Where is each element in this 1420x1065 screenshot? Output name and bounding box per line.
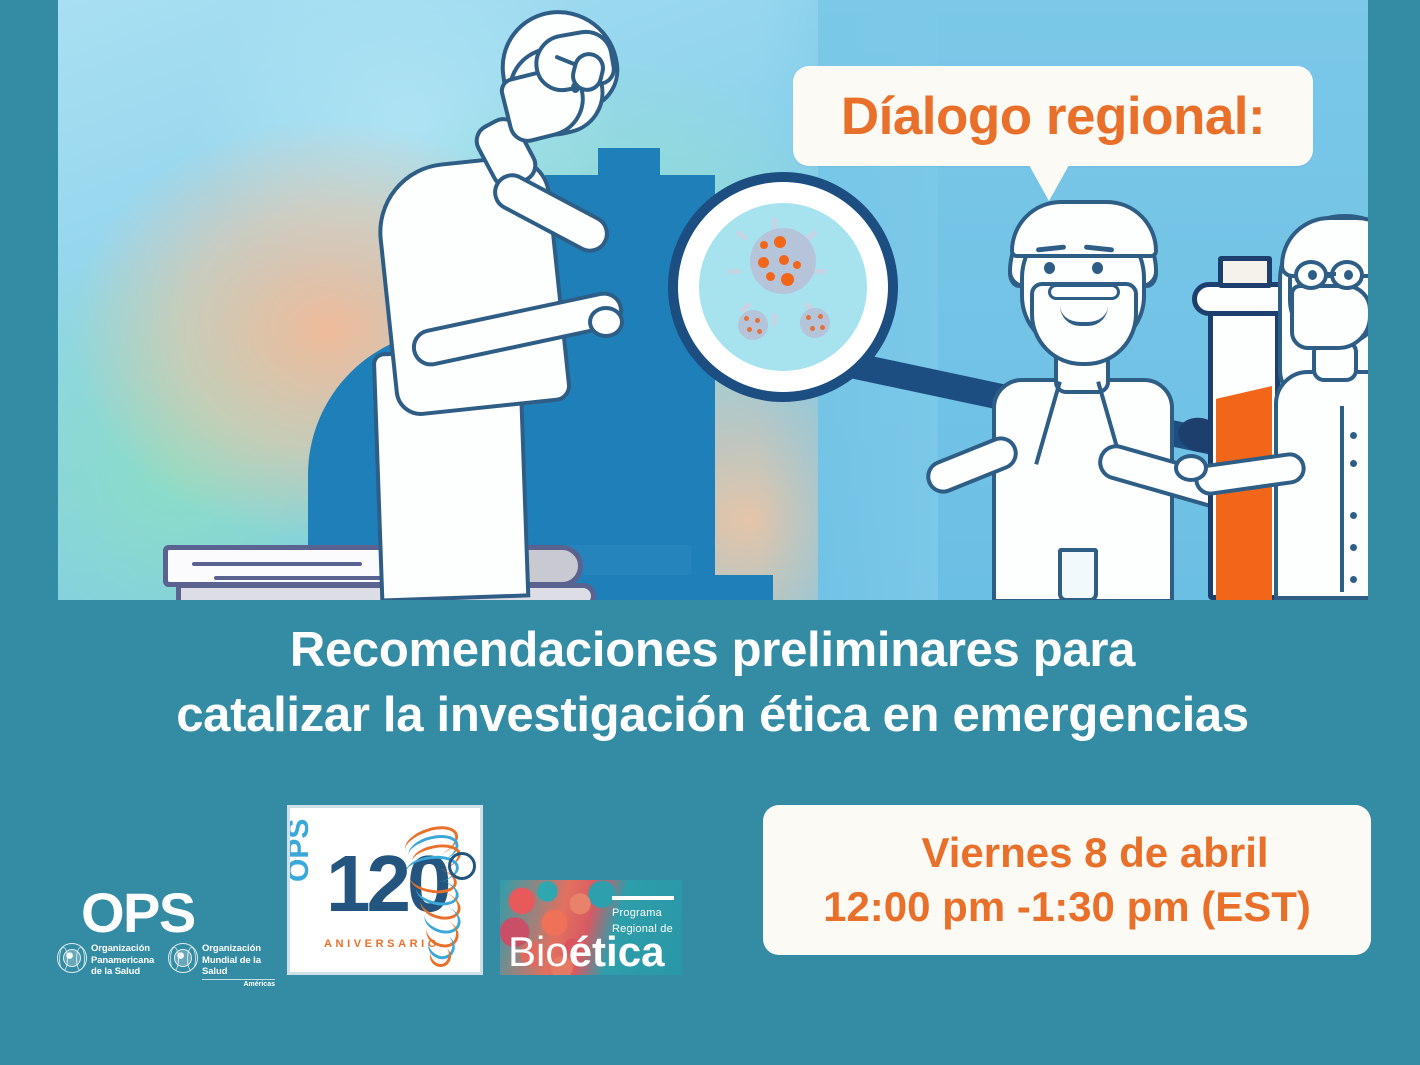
hair-top — [1010, 200, 1158, 258]
promotional-poster: Díalogo regional: Recomendaciones prelim… — [0, 0, 1420, 1065]
scientist-with-test-tube — [1246, 210, 1368, 600]
paho-emblem-group: Organización Panamericana de la Salud — [57, 943, 154, 978]
bioetica-word-bold: ética — [569, 928, 665, 975]
paho-emblem-label: Organización Panamericana de la Salud — [91, 943, 154, 978]
hand-on-knob — [588, 306, 624, 338]
bioetica-divider — [612, 896, 674, 900]
bioetica-word-light: Bio — [508, 928, 569, 975]
virus-particle-small-right — [800, 308, 830, 338]
eye-left — [1044, 262, 1055, 274]
page-title-line-1: Recomendaciones preliminares para — [60, 618, 1365, 683]
hand-holding-tube — [1174, 454, 1208, 482]
paho-wordmark: OPS — [81, 885, 195, 941]
who-region-label: Américas — [202, 979, 275, 988]
virus-particle-large — [750, 228, 816, 294]
virus-particle-small-left — [738, 310, 768, 340]
scientist-with-magnifier — [968, 190, 1228, 600]
anniversary-ops-vertical: OPS — [287, 819, 316, 882]
who-emblem-group: Organización Mundial de la Salud América… — [168, 943, 275, 988]
eyeglasses-bridge — [1326, 272, 1336, 276]
bioetica-wordmark: Bioética — [508, 931, 664, 973]
anniversary-120-logo: OPS 120 ANIVERSARIO — [287, 805, 483, 975]
speech-bubble-tail — [1029, 165, 1069, 201]
speech-bubble: Díalogo regional: — [793, 66, 1313, 166]
event-date: Viernes 8 de abril — [865, 826, 1268, 880]
who-emblem-icon — [168, 943, 198, 973]
event-datetime-box: Viernes 8 de abril 12:00 pm -1:30 pm (ES… — [763, 805, 1371, 955]
page-title: Recomendaciones preliminares para catali… — [60, 618, 1365, 747]
scientist-at-microscope — [358, 10, 658, 590]
speech-bubble-label: Díalogo regional: — [841, 86, 1265, 147]
small-beaker — [1058, 548, 1098, 600]
coat-placket — [1340, 406, 1344, 592]
bioetica-logo: Programa Regional de Bioética — [500, 880, 682, 975]
moustache — [1048, 284, 1120, 300]
eye-right — [1092, 262, 1103, 274]
who-emblem-label: Organización Mundial de la Salud — [202, 943, 275, 978]
event-time: 12:00 pm -1:30 pm (EST) — [823, 880, 1311, 934]
lab-coat-torso — [1274, 370, 1368, 600]
page-title-line-2: catalizar la investigación ética en emer… — [60, 683, 1365, 748]
eye-left — [1308, 270, 1317, 280]
eye-right — [1344, 270, 1353, 280]
face-mask-icon — [1290, 284, 1368, 350]
americas-map-icon — [386, 826, 478, 968]
paho-emblem-icon — [57, 943, 87, 973]
paho-logo: OPS Organización Panamericana de la Salu… — [55, 885, 275, 985]
